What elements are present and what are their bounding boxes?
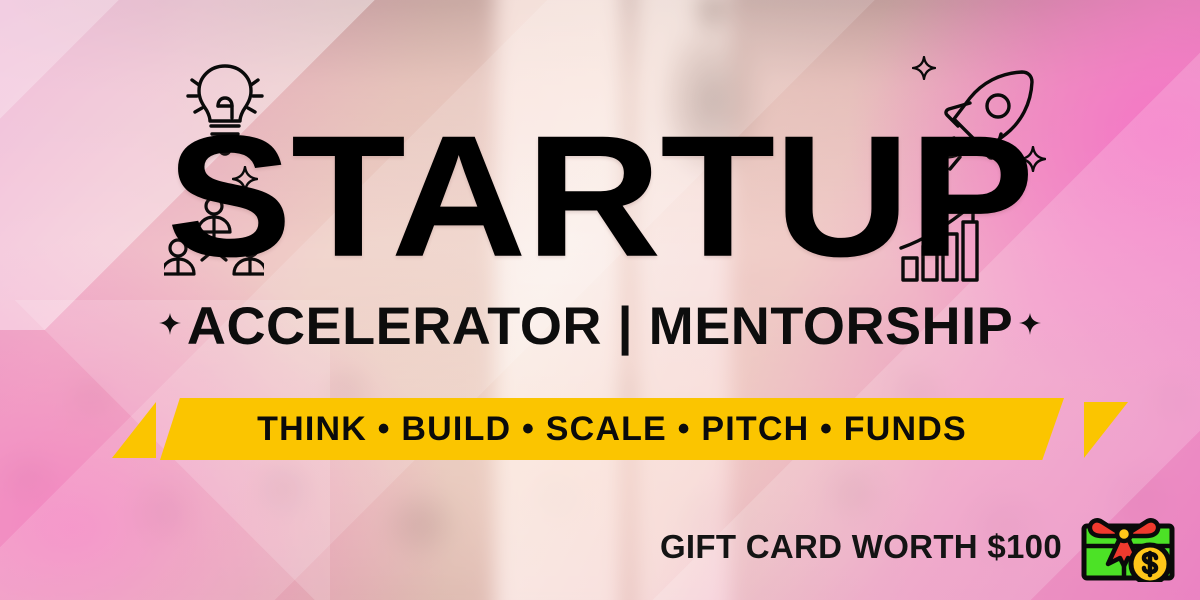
gift-card-text: GIFT CARD WORTH $100 <box>660 528 1062 566</box>
gift-card-icon <box>1080 512 1180 582</box>
banner-title: STARTUP <box>0 112 1200 280</box>
subtitle-text: ACCELERATOR | MENTORSHIP <box>187 296 1013 357</box>
ribbon-accent-left <box>112 402 156 458</box>
banner-content: STARTUP STARTUP ACCELERATOR | MENTORSHIP <box>0 0 1200 600</box>
sparkle-icon <box>912 56 936 80</box>
ribbon-accent-right <box>1084 402 1128 458</box>
ribbon-body: THINK • BUILD • SCALE • PITCH • FUNDS <box>160 398 1064 460</box>
sparkle-icon <box>159 313 181 340</box>
gift-card-offer: GIFT CARD WORTH $100 <box>660 512 1180 582</box>
event-banner: STARTUP STARTUP ACCELERATOR | MENTORSHIP <box>0 0 1200 600</box>
ribbon-text: THINK • BUILD • SCALE • PITCH • FUNDS <box>257 410 967 449</box>
banner-subtitle: ACCELERATOR | MENTORSHIP <box>0 296 1200 357</box>
keyword-ribbon: THINK • BUILD • SCALE • PITCH • FUNDS <box>0 398 1200 460</box>
sparkle-icon <box>1019 313 1041 340</box>
title-text: STARTUP <box>167 109 1034 282</box>
